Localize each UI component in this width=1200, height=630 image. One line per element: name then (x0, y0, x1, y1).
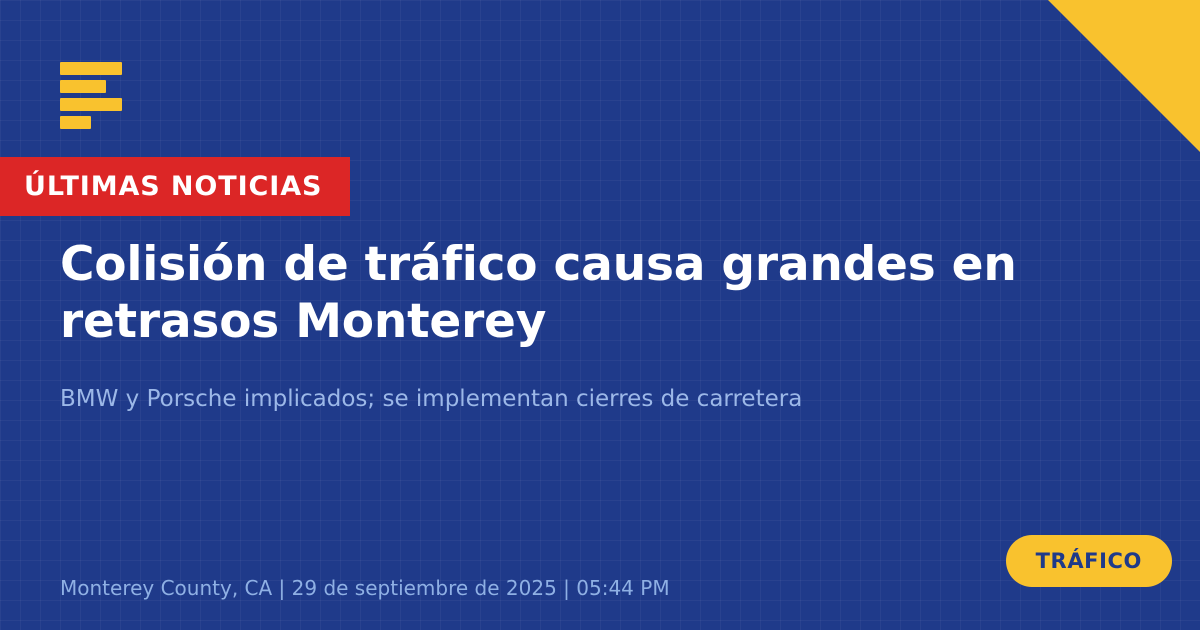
breaking-news-label: ÚLTIMAS NOTICIAS (24, 173, 322, 200)
category-badge: TRÁFICO (1006, 535, 1172, 587)
news-graphic-card: ÚLTIMAS NOTICIAS Colisión de tráfico cau… (0, 0, 1200, 630)
subtitle-text: BMW y Porsche implicados; se implementan… (60, 384, 1100, 415)
footer-meta-text: Monterey County, CA | 29 de septiembre d… (60, 576, 670, 600)
headline-title: Colisión de tráfico causa grandes en ret… (60, 236, 1120, 351)
breaking-news-badge: ÚLTIMAS NOTICIAS (0, 157, 350, 216)
logo-bar-2 (60, 80, 106, 93)
brand-logo (60, 62, 170, 129)
category-badge-label: TRÁFICO (1036, 551, 1142, 572)
card-content: ÚLTIMAS NOTICIAS Colisión de tráfico cau… (0, 0, 1200, 630)
logo-bar-4 (60, 116, 91, 129)
logo-bar-1 (60, 62, 122, 75)
logo-bar-3 (60, 98, 122, 111)
